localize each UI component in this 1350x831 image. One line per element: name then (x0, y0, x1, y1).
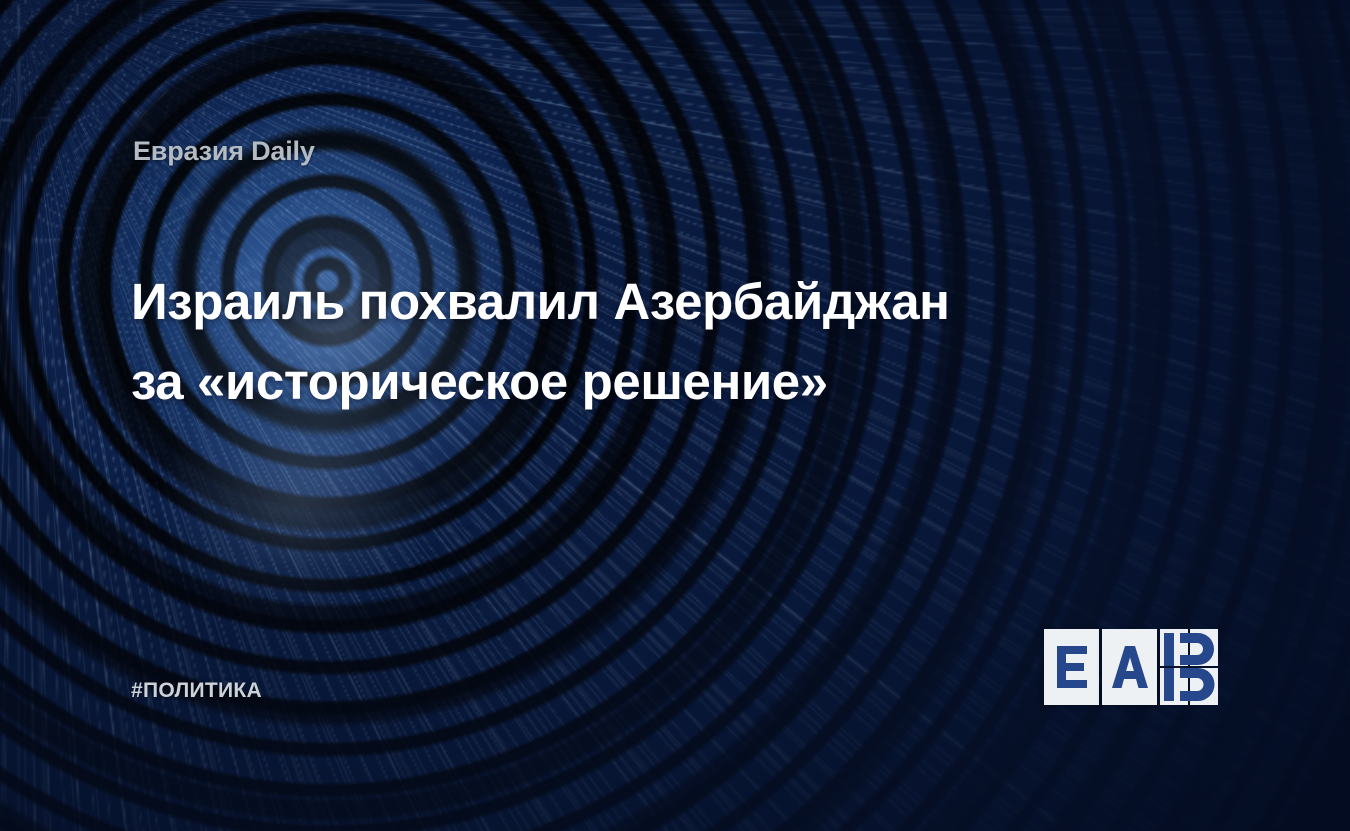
letter-a-icon (1111, 644, 1149, 690)
headline-line-1: Израиль похвалил Азербайджан (131, 262, 1091, 342)
headline-line-2: за «историческое решение» (131, 342, 1091, 422)
brand-name: Евразия Daily (133, 136, 315, 167)
category-hashtag: #ПОЛИТИКА (131, 679, 262, 703)
logo-d-cell-top-right (1190, 629, 1218, 666)
news-share-card: Евразия Daily Израиль похвалил Азербайдж… (0, 0, 1350, 831)
logo-tile-a (1102, 629, 1157, 705)
eadaily-logo (1044, 629, 1220, 705)
headline: Израиль похвалил Азербайджан за «историч… (131, 262, 1091, 422)
logo-tile-e (1044, 629, 1099, 705)
card-content: Евразия Daily Израиль похвалил Азербайдж… (0, 0, 1350, 831)
letter-d-bowl-upper-icon (1190, 629, 1218, 666)
letter-d-bowl-lower-icon (1190, 668, 1218, 705)
letter-e-icon (1055, 644, 1089, 690)
logo-tile-d-grid (1160, 629, 1218, 705)
logo-d-cell-bottom-right (1190, 668, 1218, 705)
